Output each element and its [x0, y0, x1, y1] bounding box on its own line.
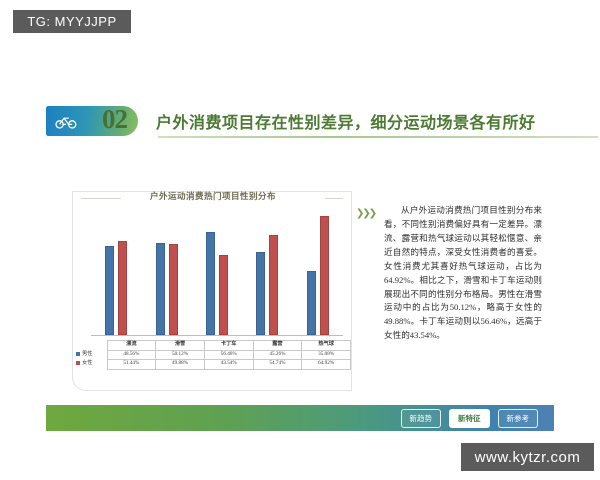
presentation-slide: 02 户外消费项目存在性别差异，细分运动场景各有所好 户外运动消费热门项目性别分…: [0, 46, 600, 396]
bar-chart-plot: [91, 208, 343, 336]
bar-露营-男性: [256, 252, 265, 335]
bicycle-icon: [55, 114, 77, 129]
table-header-热气球: 热气球: [302, 341, 351, 351]
bar-group-露营: [246, 235, 288, 335]
table-corner-cell: [75, 341, 107, 351]
cell-热气球-男性: 35.08%: [302, 350, 351, 360]
cell-漂流-男性: 48.56%: [107, 350, 156, 360]
table-header-卡丁车: 卡丁车: [204, 341, 253, 351]
page-title: 户外消费项目存在性别差异，细分运动场景各有所好: [156, 109, 536, 133]
footer-button-新参考[interactable]: 新参考: [498, 409, 539, 428]
watermark-top-tag: TG: MYYJJPP: [13, 10, 131, 33]
cell-露营-男性: 45.26%: [253, 350, 302, 360]
legend-男性: 男性: [75, 350, 107, 360]
bar-热气球-男性: [307, 271, 316, 335]
footer-bar: 新趋势新特征新参考: [46, 405, 554, 431]
data-table: 漂流滑雪卡丁车露营热气球 男性48.56%50.12%56.46%45.26%3…: [75, 340, 351, 370]
heading-divider: [158, 136, 598, 138]
cell-露营-女性: 54.74%: [253, 360, 302, 370]
slide-screenshot: TG: MYYJJPP 02 户外消费项目存在性别差异，细分运动场景各有所好 户…: [0, 0, 600, 480]
footer-button-新特征[interactable]: 新特征: [449, 409, 490, 428]
bar-露营-女性: [269, 235, 278, 335]
table-row: 女性51.44%49.88%43.54%54.74%64.92%: [75, 360, 351, 370]
table-header-滑雪: 滑雪: [156, 341, 205, 351]
bar-group-滑雪: [146, 243, 188, 335]
bar-group-漂流: [95, 241, 137, 335]
table-header-露营: 露营: [253, 341, 302, 351]
bar-卡丁车-女性: [219, 255, 228, 335]
bar-漂流-男性: [105, 246, 114, 335]
bar-group-卡丁车: [196, 232, 238, 335]
table-row: 男性48.56%50.12%56.46%45.26%35.08%: [75, 350, 351, 360]
analysis-paragraph: 从户外运动消费热门项目性别分布来看，不同性别消费偏好具有一定差异。漂流、露营和热…: [384, 204, 542, 343]
bar-漂流-女性: [118, 241, 127, 335]
chart-card: 户外运动消费热门项目性别分布 漂流滑雪卡丁车露营热气球 男性48.56%50.1…: [72, 191, 352, 391]
legend-swatch-女性: [76, 361, 80, 365]
bar-group-热气球: [297, 216, 339, 335]
bar-热气球-女性: [320, 216, 329, 335]
cell-热气球-女性: 64.92%: [302, 360, 351, 370]
bar-卡丁车-男性: [206, 232, 215, 335]
chart-data-table: 漂流滑雪卡丁车露营热气球 男性48.56%50.12%56.46%45.26%3…: [75, 340, 351, 370]
arrow-marker-icon: ❯❯❯: [356, 208, 375, 219]
cell-滑雪-女性: 49.88%: [156, 360, 205, 370]
section-number: 02: [102, 104, 127, 135]
cell-卡丁车-女性: 43.54%: [204, 360, 253, 370]
table-header-漂流: 漂流: [107, 341, 156, 351]
bar-滑雪-女性: [169, 244, 178, 335]
footer-button-新趋势[interactable]: 新趋势: [401, 409, 442, 428]
chart-title: 户外运动消费热门项目性别分布: [73, 190, 353, 202]
watermark-bottom-url: www.kytzr.com: [461, 443, 594, 471]
cell-卡丁车-男性: 56.46%: [204, 350, 253, 360]
cell-滑雪-男性: 50.12%: [156, 350, 205, 360]
table-body: 男性48.56%50.12%56.46%45.26%35.08%女性51.44%…: [75, 350, 351, 369]
bar-滑雪-男性: [156, 243, 165, 335]
table-header-row: 漂流滑雪卡丁车露营热气球: [75, 341, 351, 351]
chart-x-axis: [91, 335, 343, 336]
section-heading: 02 户外消费项目存在性别差异，细分运动场景各有所好: [46, 104, 556, 140]
legend-swatch-男性: [76, 352, 80, 356]
cell-漂流-女性: 51.44%: [107, 360, 156, 370]
legend-女性: 女性: [75, 360, 107, 370]
